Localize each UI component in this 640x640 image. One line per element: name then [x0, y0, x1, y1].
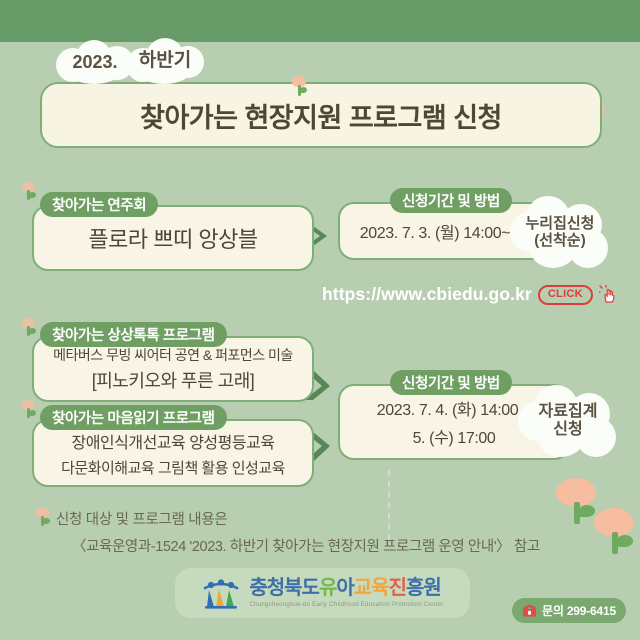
telephone-icon: [522, 604, 537, 617]
apply-label-1: 신청기간 및 방법: [390, 188, 512, 213]
apply-badge-text: 자료집계 신청: [539, 403, 598, 440]
section-label-mindreading: 찾아가는 마음읽기 프로그램: [40, 405, 227, 430]
section-label-text: 찾아가는 상상톡톡 프로그램: [52, 324, 215, 345]
page-title: 찾아가는 현장지원 프로그램 신청: [140, 96, 502, 135]
apply-label-2: 신청기간 및 방법: [390, 370, 512, 395]
apply-date-line: 2023. 7. 4. (화) 14:00 ~: [377, 396, 532, 420]
apply-badge-line-2: (선착순): [525, 232, 594, 249]
tulip-icon-title-top: [292, 76, 310, 98]
apply-badge-2: 자료집계 신청: [516, 383, 620, 459]
pointer-hand-icon: [599, 285, 619, 305]
apply-date-line: 5. (수) 17:00: [413, 424, 496, 448]
apply-label-text: 신청기간 및 방법: [402, 190, 500, 211]
section-card-line: [피노키오와 푸른 고래]: [92, 367, 255, 393]
organization-name-en: Chungcheongbuk-do Early Childhood Educat…: [249, 601, 443, 608]
poster-root: 2023. 하반기 찾아가는 현장지원 프로그램 신청 찾아가는 연주회 플로라…: [0, 0, 640, 640]
tulip-icon-bottom-right-2: [594, 508, 640, 558]
footnote-line-2: 〈교육운영과-1524 '2023. 하반기 찾아가는 현장지원 프로그램 운영…: [72, 535, 540, 556]
application-url[interactable]: https://www.cbiedu.go.kr: [322, 284, 532, 305]
section-card-line: 플로라 쁘띠 앙상블: [88, 222, 257, 254]
application-url-row[interactable]: https://www.cbiedu.go.kr CLICK: [322, 284, 619, 305]
section-label-concert: 찾아가는 연주회: [40, 192, 158, 217]
apply-badge-1: 누리집신청 (선착순): [508, 194, 612, 270]
section-card-line: 다문화이해교육 그림책 활용 인성교육: [61, 457, 285, 478]
footnote-block: 신청 대상 및 프로그램 내용은 〈교육운영과-1524 '2023. 하반기 …: [34, 508, 540, 556]
apply-label-text: 신청기간 및 방법: [402, 372, 500, 393]
section-card-line: 장애인식개선교육 양성평등교육: [71, 429, 274, 453]
half-chip: 하반기: [122, 36, 208, 86]
tulip-icon-left-2: [22, 318, 38, 338]
contact-label: 문의 299-6415: [542, 602, 616, 619]
section-label-imagination: 찾아가는 상상톡톡 프로그램: [40, 322, 227, 347]
poster-title-banner: 찾아가는 현장지원 프로그램 신청: [40, 82, 602, 148]
organization-logo-icon: [201, 576, 241, 610]
section-label-text: 찾아가는 마음읽기 프로그램: [52, 407, 215, 428]
apply-badge-line-2: 신청: [539, 421, 598, 439]
section-label-text: 찾아가는 연주회: [52, 194, 146, 215]
apply-badge-text: 누리집신청 (선착순): [525, 215, 594, 250]
tulip-icon-left-3: [22, 400, 38, 420]
top-green-band: [0, 0, 640, 42]
organization-name-ko: 충청북도유아교육진흥원: [249, 578, 440, 598]
year-chip-label: 2023.: [72, 52, 117, 73]
click-badge[interactable]: CLICK: [538, 285, 593, 305]
tulip-icon-left-1: [22, 182, 38, 202]
contact-badge[interactable]: 문의 299-6415: [512, 598, 626, 623]
apply-badge-line-1: 누리집신청: [525, 215, 594, 232]
organization-logo-plate: 충청북도유아교육진흥원 Chungcheongbuk-do Early Chil…: [175, 568, 470, 618]
half-chip-label: 하반기: [139, 50, 191, 72]
footnote-line-1: 신청 대상 및 프로그램 내용은: [56, 508, 540, 529]
section-card-line: 메타버스 무빙 씨어터 공연 & 퍼포먼스 미술: [53, 345, 293, 365]
organization-logo-text: 충청북도유아교육진흥원 Chungcheongbuk-do Early Chil…: [249, 578, 443, 608]
apply-badge-line-1: 자료집계: [539, 403, 598, 421]
